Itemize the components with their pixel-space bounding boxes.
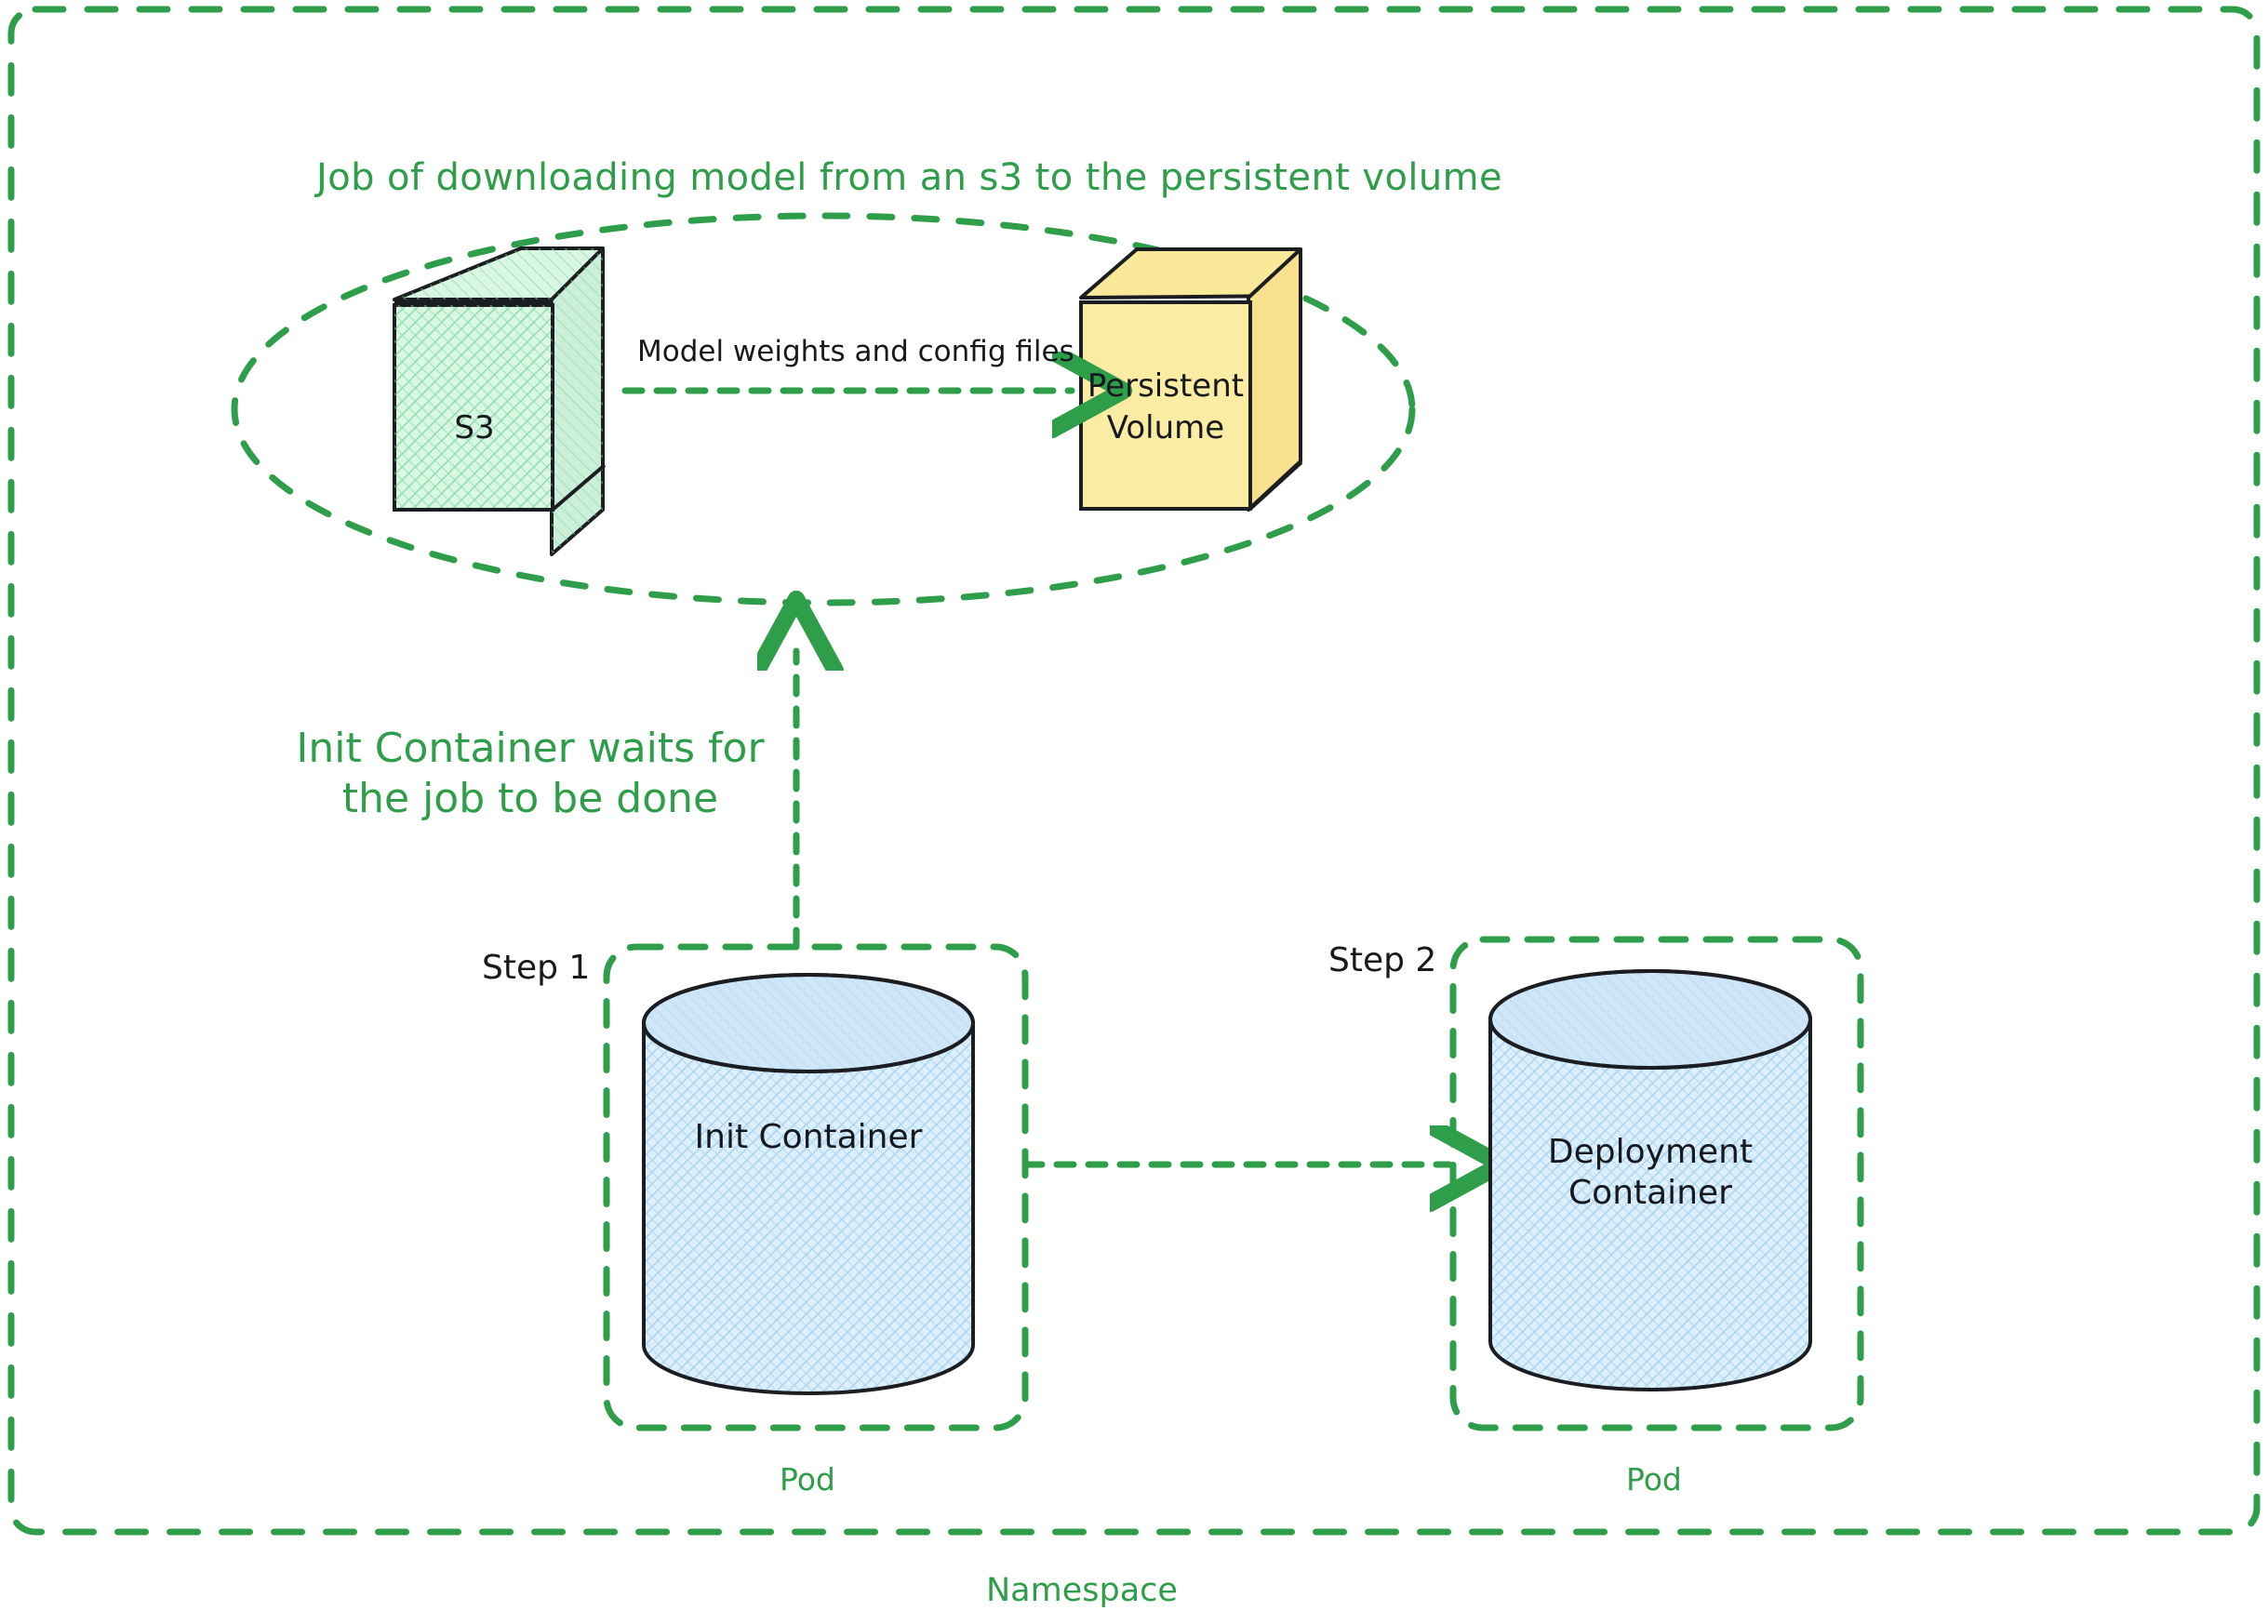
init-container-cylinder [644,975,973,1393]
step-2-label: Step 2 [1328,941,1436,980]
step-1-label: Step 1 [482,949,590,988]
deployment-container-label-line2: Container [1492,1174,1808,1213]
model-transfer-edge-label: Model weights and config files [637,335,1074,369]
pod-label-2: Pod [1626,1462,1682,1498]
init-container-label: Init Container [650,1118,967,1157]
persistent-volume-label-line2: Volume [1074,409,1257,446]
persistent-volume-label-line1: Persistent [1074,367,1257,405]
deployment-container-label-line1: Deployment [1492,1133,1808,1172]
namespace-label: Namespace [986,1572,1178,1610]
s3-cube [394,248,605,554]
init-wait-note-line1: Init Container waits for [279,724,781,774]
diagram-canvas: Job of downloading model from an s3 to t… [0,0,2268,1624]
init-wait-note-line2: the job to be done [279,774,781,824]
pod-label-1: Pod [780,1462,835,1498]
s3-cube-label: S3 [409,409,540,446]
job-title-label: Job of downloading model from an s3 to t… [316,156,1502,200]
